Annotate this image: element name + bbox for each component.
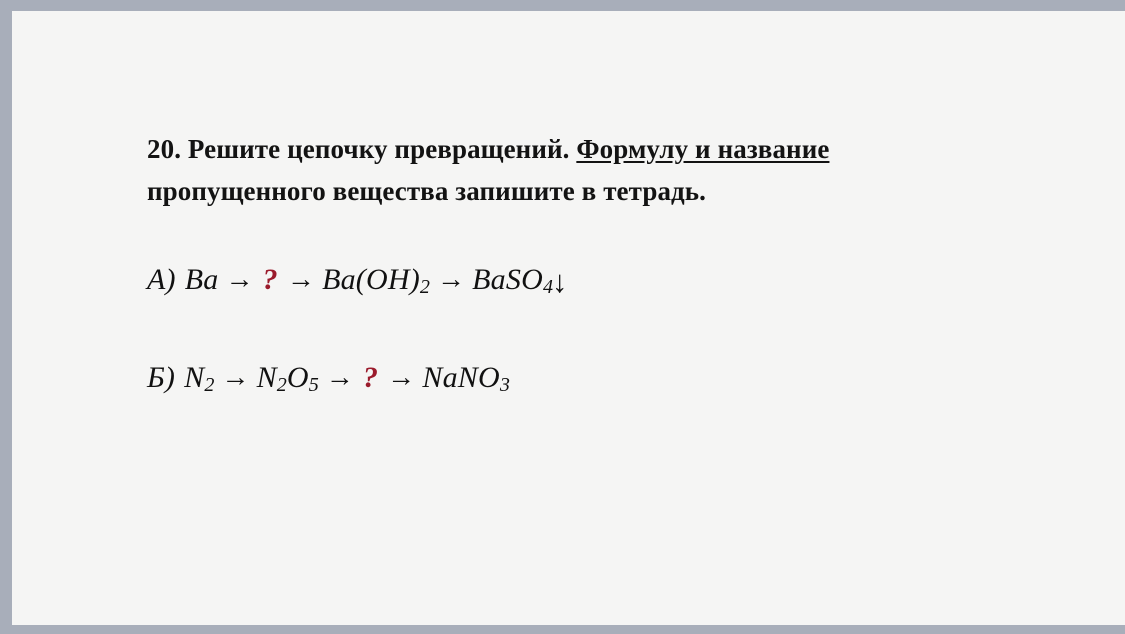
chain-a-arrow-1: → (218, 264, 260, 295)
chain-b-reagent-1-subscript: 2 (204, 374, 214, 396)
chain-b-reagent-3: NaNO (422, 361, 500, 394)
chain-a-reagent-2: Ba(OH) (322, 263, 420, 296)
chain-b-reagent-3-subscript: 3 (500, 374, 510, 396)
chain-a-reagent-1: Ba (185, 263, 219, 296)
transformation-chains: А)Ba→?→Ba(OH)2→BaSO4↓ Б)N2→N2O5→?→NaNO3 (147, 254, 967, 406)
chain-a-label: А) (147, 263, 176, 296)
slide-border-top (0, 0, 1125, 11)
chain-b-arrow-3: → (380, 362, 422, 393)
chain-b-reagent-1: N (184, 361, 204, 394)
chain-b-label: Б) (147, 361, 175, 394)
slide-border-bottom (0, 625, 1125, 634)
chain-b-reagent-2-subscript: 2 (277, 374, 287, 396)
chain-row-a: А)Ba→?→Ba(OH)2→BaSO4↓ (147, 254, 967, 308)
chain-b-arrow-2: → (319, 362, 361, 393)
chain-b-reagent-2b: O (287, 361, 309, 394)
chain-a-reagent-2-subscript: 2 (420, 276, 430, 298)
chain-b-reagent-2: N (257, 361, 277, 394)
task-prompt-part-2: пропущенного вещества запишите в тетрадь… (147, 176, 706, 206)
task-prompt-underlined: Формулу и название (576, 134, 829, 164)
content-area: 20. Решите цепочку превращений. Формулу … (147, 101, 967, 406)
chain-a-arrow-3: → (430, 264, 472, 295)
chain-a-unknown: ? (261, 263, 280, 296)
chain-b-unknown: ? (361, 361, 380, 394)
task-prompt-part-1: Решите цепочку превращений. (181, 134, 576, 164)
chain-a-arrow-2: → (280, 264, 322, 295)
slide-border-left (0, 0, 12, 634)
precipitate-down-arrow-icon: ↓ (552, 264, 568, 299)
task-prompt: 20. Решите цепочку превращений. Формулу … (147, 128, 937, 212)
task-number: 20. (147, 134, 181, 164)
chain-b-reagent-2b-subscript: 5 (309, 374, 319, 396)
chain-a-reagent-3: BaSO (472, 263, 543, 296)
chain-b-arrow-1: → (214, 362, 256, 393)
chain-row-b: Б)N2→N2O5→?→NaNO3 (147, 353, 967, 406)
slide-canvas: 20. Решите цепочку превращений. Формулу … (12, 11, 1125, 625)
slide: 20. Решите цепочку превращений. Формулу … (0, 0, 1125, 634)
